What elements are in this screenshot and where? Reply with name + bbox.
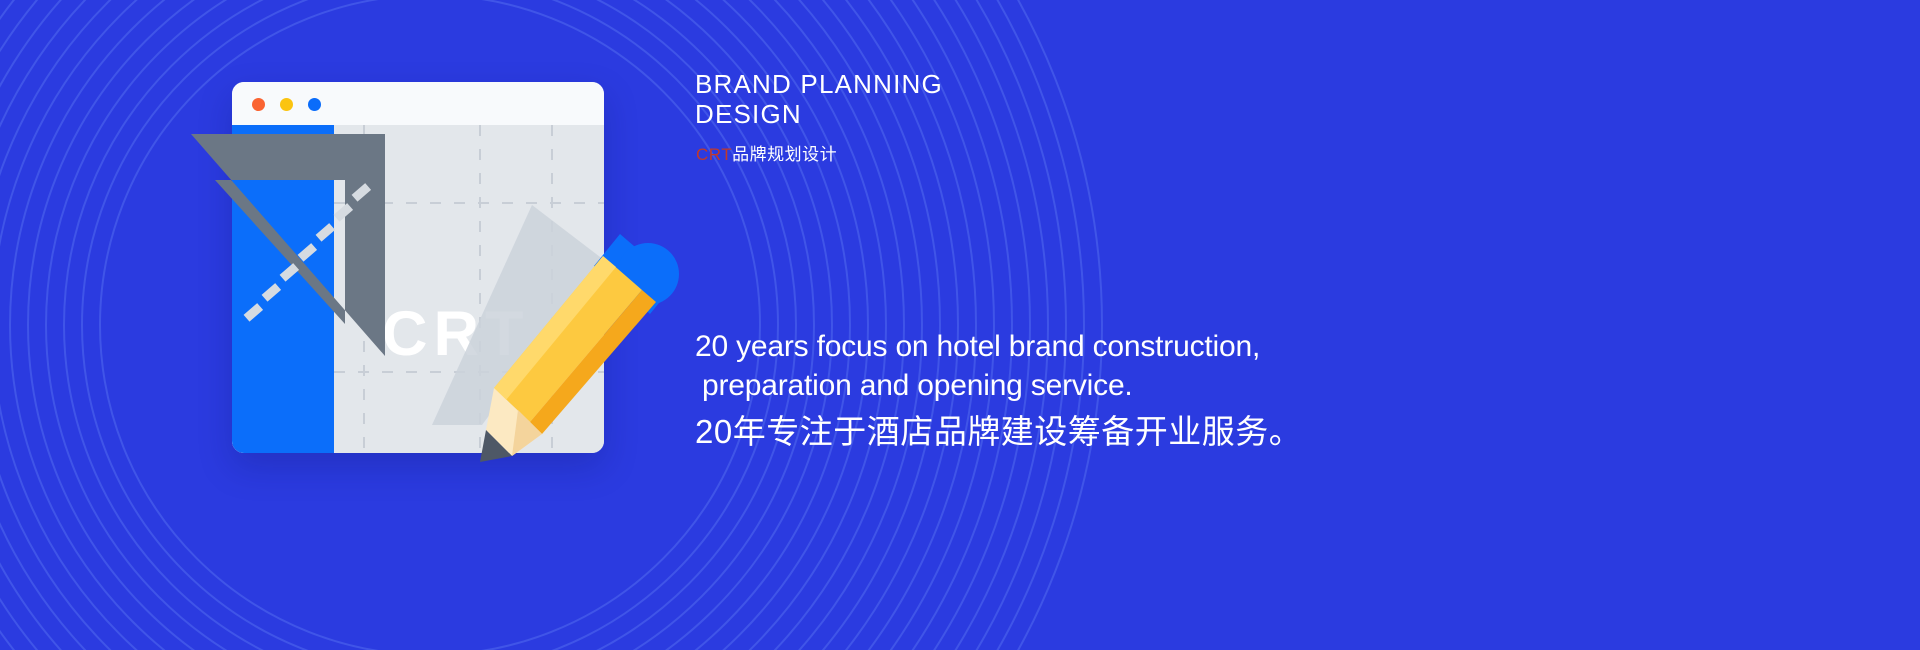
- tagline-english-line-1: 20 years focus on hotel brand constructi…: [695, 330, 1260, 363]
- pencil-icon: [470, 230, 680, 465]
- set-square-ruler-icon: [185, 128, 400, 358]
- close-dot-icon: [252, 98, 265, 111]
- subline: CRT品牌规划设计: [696, 140, 837, 165]
- tagline-english: 20 years focus on hotel brand constructi…: [695, 327, 1395, 405]
- headline: BRAND PLANNING DESIGN: [695, 69, 1025, 129]
- brand-banner: CRT: [0, 0, 1920, 650]
- minimize-dot-icon: [280, 98, 293, 111]
- subline-chinese: 品牌规划设计: [732, 145, 837, 164]
- browser-title-bar: [232, 82, 604, 125]
- tagline-chinese: 20年专注于酒店品牌建设筹备开业服务。: [695, 412, 1302, 452]
- subline-brand: CRT: [696, 145, 732, 164]
- maximize-dot-icon: [308, 98, 321, 111]
- tagline-english-line-2: preparation and opening service.: [695, 366, 1395, 405]
- brand-illustration: CRT: [185, 75, 685, 470]
- copy-column: BRAND PLANNING DESIGN CRT品牌规划设计 20 years…: [695, 0, 1845, 650]
